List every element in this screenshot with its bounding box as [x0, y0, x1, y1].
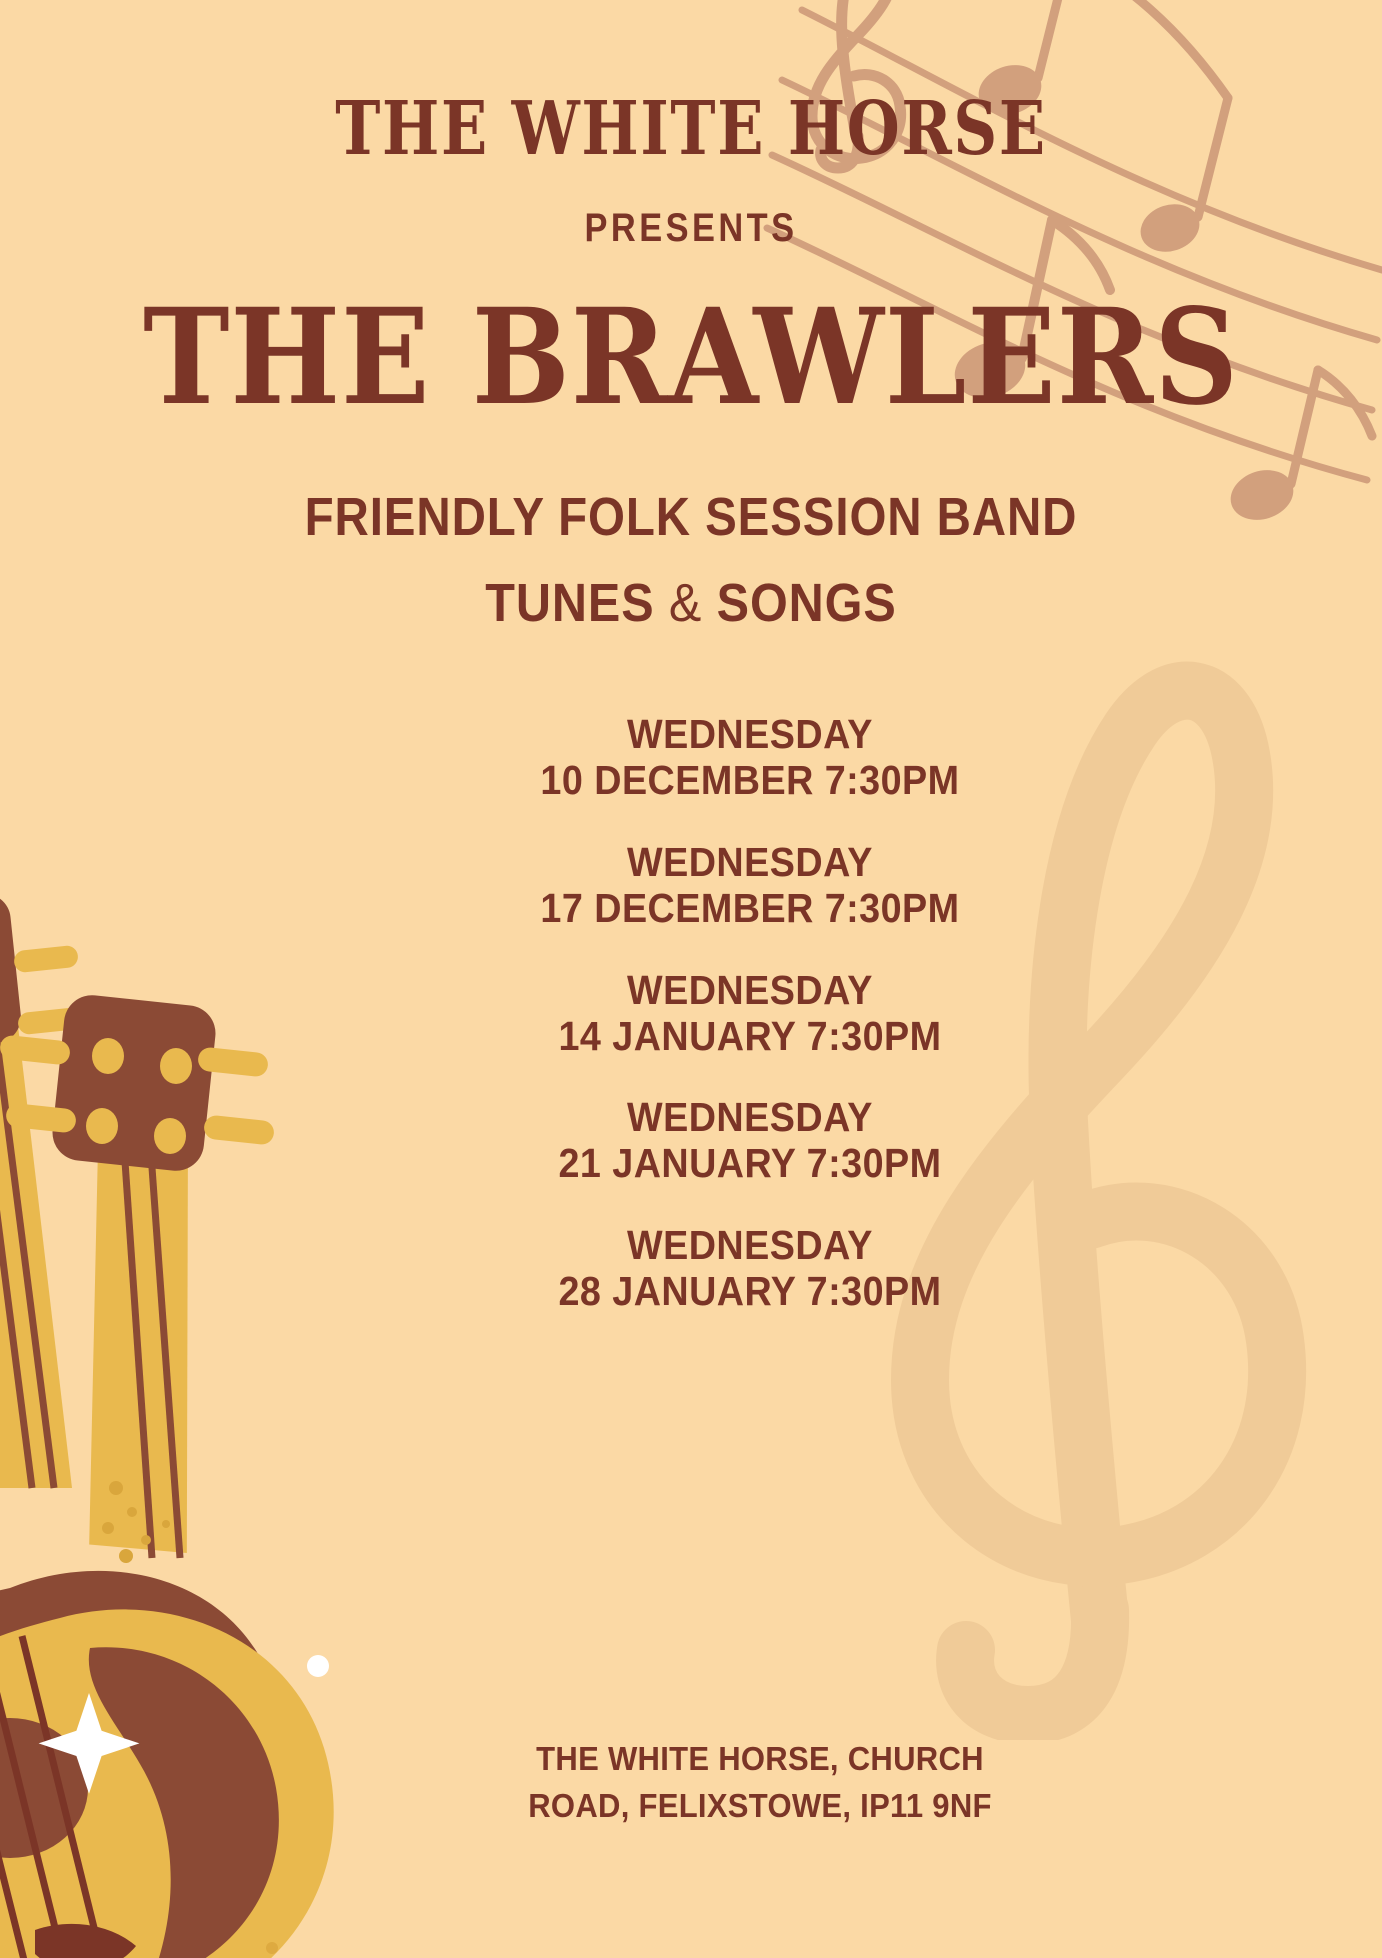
list-item: WEDNESDAY 28 JANUARY 7:30PM — [430, 1223, 1070, 1315]
list-item: WEDNESDAY 21 JANUARY 7:30PM — [430, 1095, 1070, 1187]
list-item: WEDNESDAY 10 DECEMBER 7:30PM — [430, 712, 1070, 804]
poster-content: THE WHITE HORSE PRESENTS THE BRAWLERS FR… — [0, 0, 1382, 1958]
list-item: WEDNESDAY 17 DECEMBER 7:30PM — [430, 840, 1070, 932]
ampersand-glyph: & — [669, 573, 702, 633]
date-when: 21 JANUARY 7:30PM — [456, 1141, 1045, 1187]
date-when: 17 DECEMBER 7:30PM — [456, 886, 1045, 932]
list-item: WEDNESDAY 14 JANUARY 7:30PM — [430, 968, 1070, 1060]
event-dates-list: WEDNESDAY 10 DECEMBER 7:30PM WEDNESDAY 1… — [430, 712, 1070, 1351]
date-day: WEDNESDAY — [456, 1223, 1045, 1269]
date-when: 14 JANUARY 7:30PM — [456, 1014, 1045, 1060]
venue-address: THE WHITE HORSE, CHURCH ROAD, FELIXSTOWE… — [430, 1736, 1090, 1830]
tagline-2-prefix: TUNES — [485, 573, 669, 633]
presents-label: PRESENTS — [97, 206, 1286, 251]
band-name-heading: THE BRAWLERS — [83, 292, 1299, 424]
address-line-1: THE WHITE HORSE, CHURCH — [450, 1736, 1070, 1783]
tagline-line-2: TUNES & SONGS — [69, 572, 1313, 634]
date-day: WEDNESDAY — [456, 1095, 1045, 1141]
tagline-line-1: FRIENDLY FOLK SESSION BAND — [83, 486, 1299, 548]
tagline-2-suffix: SONGS — [702, 573, 896, 633]
address-line-2: ROAD, FELIXSTOWE, IP11 9NF — [450, 1783, 1070, 1830]
date-day: WEDNESDAY — [456, 712, 1045, 758]
date-day: WEDNESDAY — [456, 840, 1045, 886]
date-day: WEDNESDAY — [456, 968, 1045, 1014]
date-when: 28 JANUARY 7:30PM — [456, 1269, 1045, 1315]
event-poster: THE WHITE HORSE PRESENTS THE BRAWLERS FR… — [0, 0, 1382, 1958]
venue-name-heading: THE WHITE HORSE — [124, 92, 1257, 166]
date-when: 10 DECEMBER 7:30PM — [456, 758, 1045, 804]
